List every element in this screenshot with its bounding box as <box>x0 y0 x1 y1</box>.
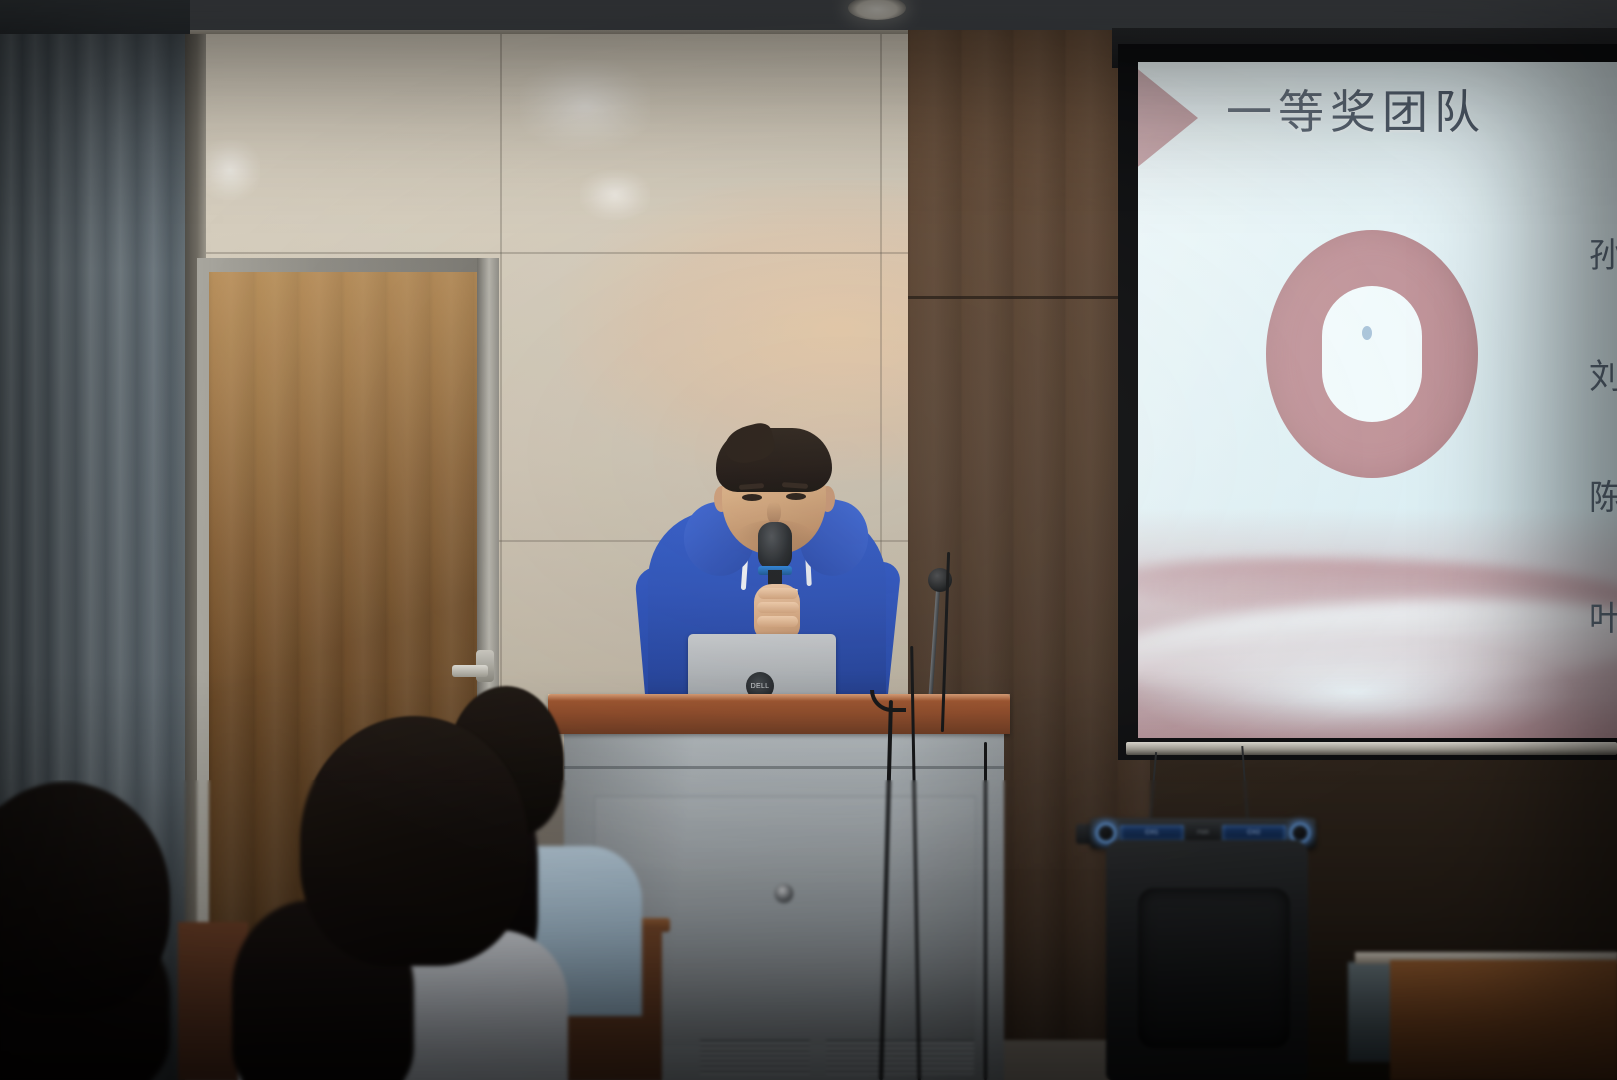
receiver-power-label: PWR <box>1188 825 1218 841</box>
door-light-reflection <box>209 272 477 692</box>
podium-lock-icon[interactable] <box>775 884 793 902</box>
receiver-lcd-left: CH1 <box>1120 825 1184 841</box>
curtain-rail <box>0 0 190 34</box>
lecture-hall-photo: 一等奖团队 孙 刘 陈 叶 CH1 PWR CH2 E <box>0 0 1617 1080</box>
presenter-eye-right <box>786 493 806 500</box>
handheld-microphone-icon[interactable] <box>758 522 792 570</box>
slide-name-3: 叶 <box>1589 591 1617 640</box>
slide-name-2: 陈 <box>1589 470 1617 519</box>
presenter-finger-1 <box>758 588 798 599</box>
pa-speaker-grille-icon <box>1138 888 1290 1048</box>
presenter-finger-2 <box>757 602 799 613</box>
wall-seam-horizontal <box>176 252 946 254</box>
slide-name-1: 刘 <box>1589 349 1617 398</box>
podium-vent-right <box>826 1040 974 1074</box>
slide-numeral-counter <box>1322 286 1422 422</box>
slide-chevron-accent-icon <box>1138 66 1198 170</box>
projection-screen: 一等奖团队 孙 刘 陈 叶 <box>1138 62 1617 738</box>
receiver-lcd-right: CH2 <box>1222 825 1286 841</box>
cable-right <box>984 742 987 1080</box>
slide-name-list: 孙 刘 陈 叶 <box>1589 228 1617 640</box>
slide-name-0: 孙 <box>1589 228 1617 277</box>
presenter-finger-3 <box>757 616 798 627</box>
door-handle-icon[interactable] <box>452 665 488 677</box>
projector-screen-weight-bar <box>1126 742 1617 755</box>
podium-seam-top <box>564 766 1004 769</box>
podium-vent-left <box>700 1040 810 1074</box>
audience-b-hair <box>300 716 528 966</box>
right-desk <box>1390 960 1617 1080</box>
receiver-knob-left-icon[interactable] <box>1096 823 1116 843</box>
presenter-nose <box>767 502 781 524</box>
podium-top-highlight <box>548 694 1010 701</box>
presenter-eye-left <box>742 494 762 501</box>
wall-seam-vertical-a <box>500 34 502 794</box>
slide-big-numeral <box>1266 230 1478 478</box>
slide-title: 一等奖团队 <box>1226 76 1486 142</box>
slide-numeral-dot <box>1362 326 1372 340</box>
